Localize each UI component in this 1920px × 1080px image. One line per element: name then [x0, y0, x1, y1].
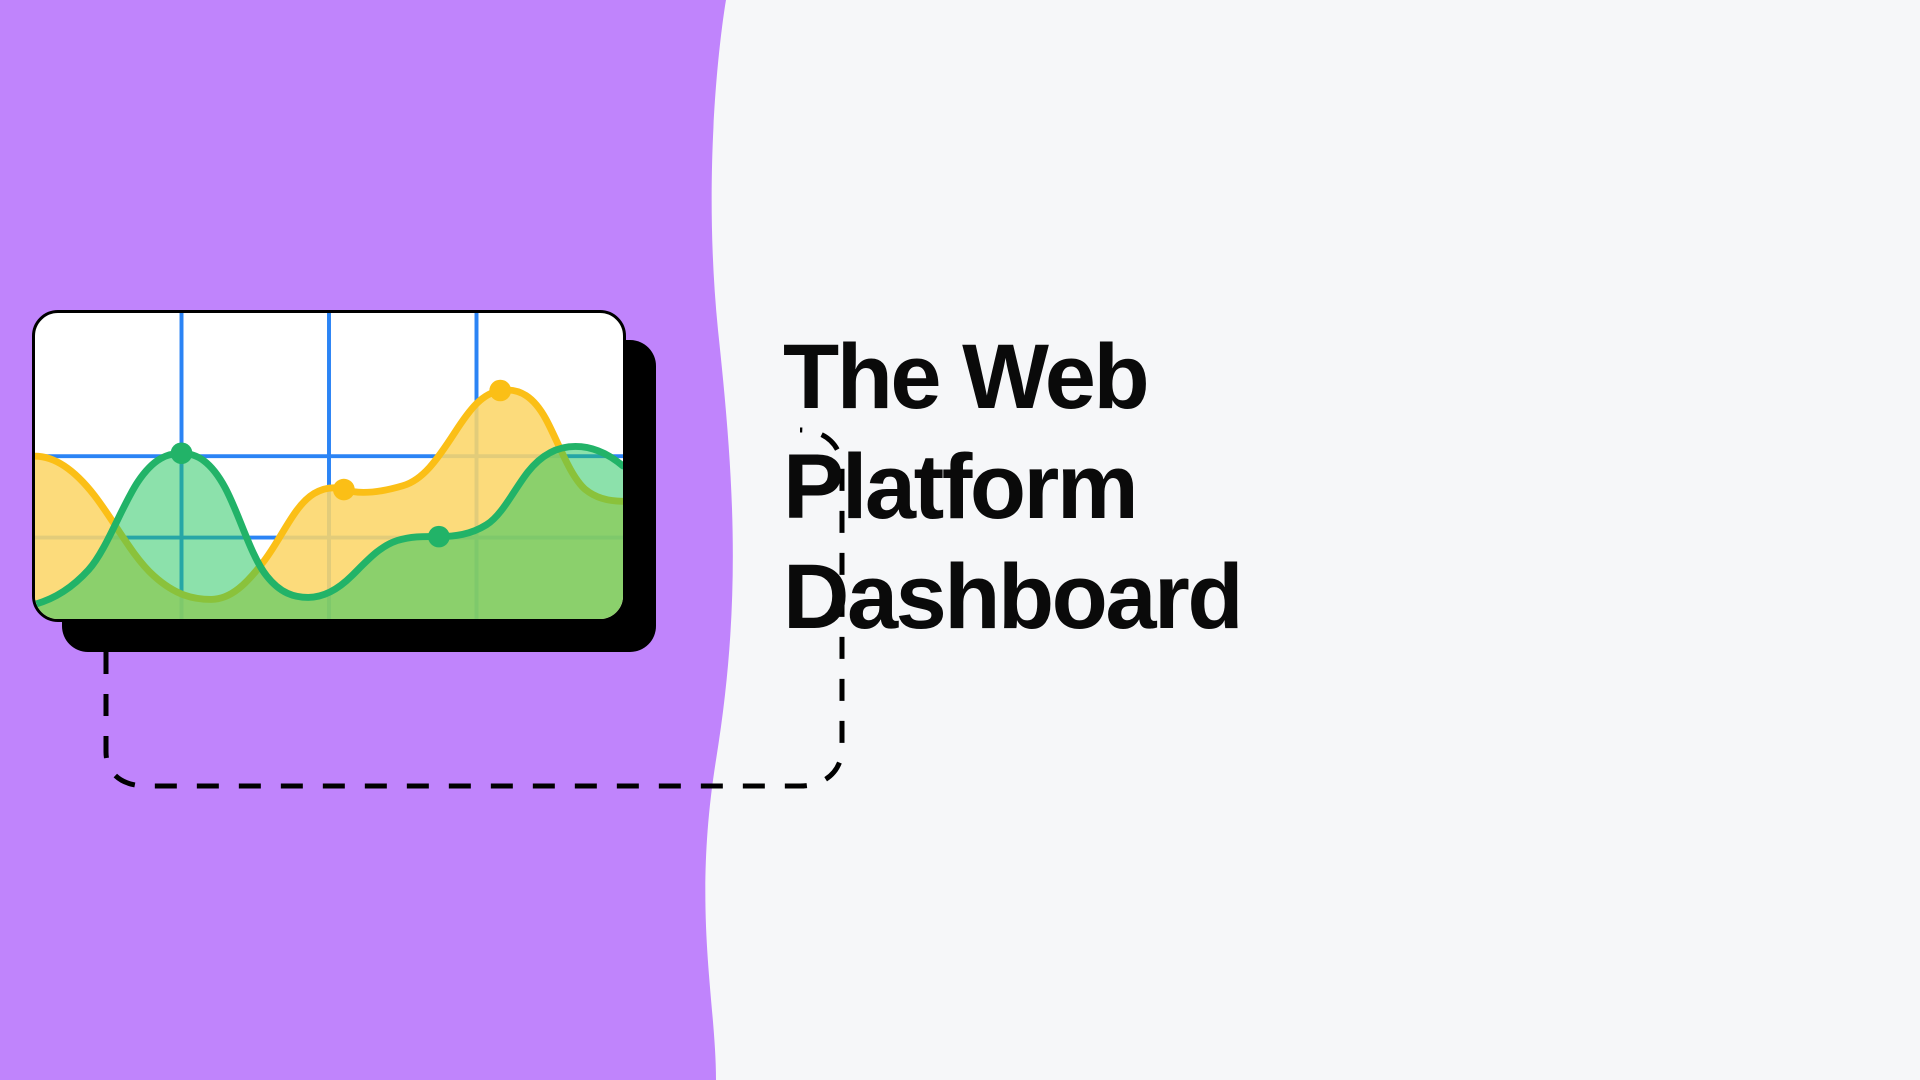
data-point-yellow-2[interactable]: [489, 380, 511, 402]
area-chart[interactable]: [35, 313, 623, 619]
page-title-line-2: Platform: [783, 432, 1683, 542]
page-title-line-1: The Web: [783, 322, 1683, 432]
data-point-green-1[interactable]: [171, 442, 193, 464]
hero-banner: The Web Platform Dashboard: [0, 0, 1920, 1080]
data-point-yellow-1[interactable]: [333, 479, 355, 501]
dashboard-chart-card[interactable]: [32, 310, 626, 622]
data-point-green-2[interactable]: [428, 526, 450, 548]
page-title: The Web Platform Dashboard: [783, 322, 1683, 652]
page-title-line-3: Dashboard: [783, 542, 1683, 652]
